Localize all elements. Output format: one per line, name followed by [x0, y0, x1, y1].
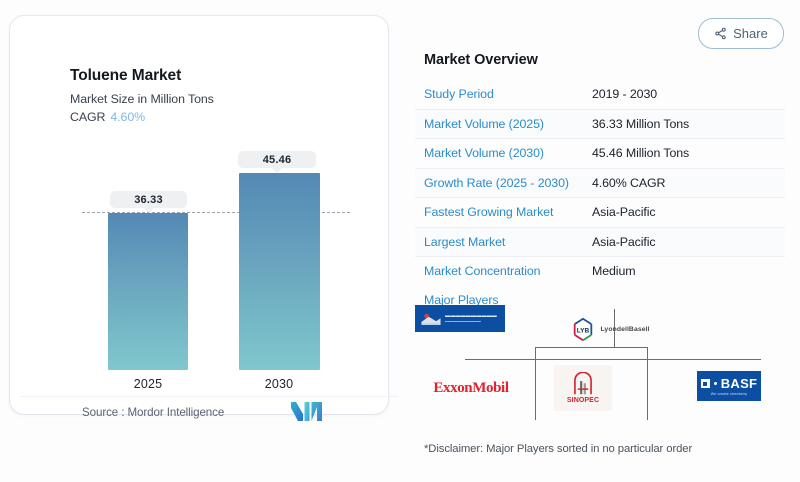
share-button[interactable]: Share — [698, 18, 784, 49]
mordor-intelligence-logo — [291, 402, 322, 421]
player-name-basf: BASF — [721, 376, 758, 391]
row-key: Growth Rate (2025 - 2030) — [415, 176, 592, 190]
cn-emblem-icon — [420, 310, 442, 328]
player-name-china-petrochemical: ▬▬▬▬▬▬▬▬▬▬ ▬▬▬▬▬▬▬▬▬▬▬▬ — [445, 313, 497, 324]
table-row: Market Concentration Medium — [415, 257, 785, 286]
row-value: Medium — [592, 264, 635, 278]
player-logo-china-petrochemical: ▬▬▬▬▬▬▬▬▬▬ ▬▬▬▬▬▬▬▬▬▬▬▬ — [415, 305, 505, 332]
table-row: Market Volume (2025) 36.33 Million Tons — [415, 110, 785, 140]
row-key: Market Concentration — [415, 264, 592, 278]
connector-line — [465, 359, 761, 360]
row-value: Asia-Pacific — [592, 235, 656, 249]
player-logo-exxonmobil: ExxonMobil — [421, 378, 521, 398]
connector-line — [647, 347, 648, 420]
x-tick-2025: 2025 — [103, 377, 193, 391]
major-players-diagram: LYB LyondellBasell ▬▬▬▬▬▬▬▬▬▬ ▬▬▬▬▬▬▬▬▬▬… — [415, 305, 785, 420]
market-overview-title: Market Overview — [424, 52, 538, 68]
table-row: Largest Market Asia-Pacific — [415, 228, 785, 258]
player-name-lyondellbasell: LyondellBasell — [600, 326, 649, 333]
player-name-sinopec: SINOPEC — [567, 397, 599, 404]
share-icon — [714, 27, 727, 40]
svg-text:LYB: LYB — [577, 327, 590, 334]
player-logo-lyondellbasell: LYB LyondellBasell — [548, 316, 673, 342]
sinopec-mark-icon — [572, 372, 594, 396]
x-tick-2030: 2030 — [234, 377, 324, 391]
basf-square-icon — [701, 379, 710, 388]
bar-2025[interactable] — [108, 213, 188, 370]
row-value: Asia-Pacific — [592, 205, 656, 219]
chart-card: Toluene Market Market Size in Million To… — [10, 16, 388, 414]
chart-footer-divider — [20, 396, 398, 397]
player-logo-basf: BASF We create chemistry — [697, 371, 761, 401]
lyb-hexagon-icon: LYB — [571, 317, 595, 342]
bar-label-2030: 45.46 — [238, 151, 316, 168]
table-row: Market Volume (2030) 45.46 Million Tons — [415, 139, 785, 169]
connector-line — [535, 347, 536, 420]
player-logo-sinopec: SINOPEC — [554, 365, 612, 411]
row-key: Market Volume (2030) — [415, 146, 592, 160]
share-button-label: Share — [733, 26, 768, 41]
table-row: Fastest Growing Market Asia-Pacific — [415, 198, 785, 228]
basf-dot-icon — [714, 382, 717, 385]
player-name-exxonmobil: ExxonMobil — [433, 380, 508, 397]
bar-chart-plot: 36.33 45.46 2025 2030 — [10, 16, 388, 414]
row-key: Study Period — [415, 87, 592, 101]
row-value: 2019 - 2030 — [592, 87, 657, 101]
row-key: Largest Market — [415, 235, 592, 249]
basf-tagline: We create chemistry — [711, 392, 748, 396]
row-key: Fastest Growing Market — [415, 205, 592, 219]
row-value: 45.46 Million Tons — [592, 146, 689, 160]
connector-line — [535, 347, 648, 348]
row-value: 36.33 Million Tons — [592, 117, 689, 131]
market-overview-table: Study Period 2019 - 2030 Market Volume (… — [415, 80, 785, 286]
row-key: Market Volume (2025) — [415, 117, 592, 131]
basf-wordmark: BASF — [701, 376, 758, 391]
table-row: Growth Rate (2025 - 2030) 4.60% CAGR — [415, 169, 785, 199]
chart-source: Source : Mordor Intelligence — [82, 406, 224, 419]
row-value: 4.60% CAGR — [592, 176, 665, 190]
bar-2030[interactable] — [239, 173, 320, 370]
table-row: Study Period 2019 - 2030 — [415, 80, 785, 110]
bar-label-2025: 36.33 — [110, 191, 187, 208]
players-disclaimer: *Disclaimer: Major Players sorted in no … — [424, 443, 692, 455]
page-root: Toluene Market Market Size in Million To… — [0, 0, 800, 482]
